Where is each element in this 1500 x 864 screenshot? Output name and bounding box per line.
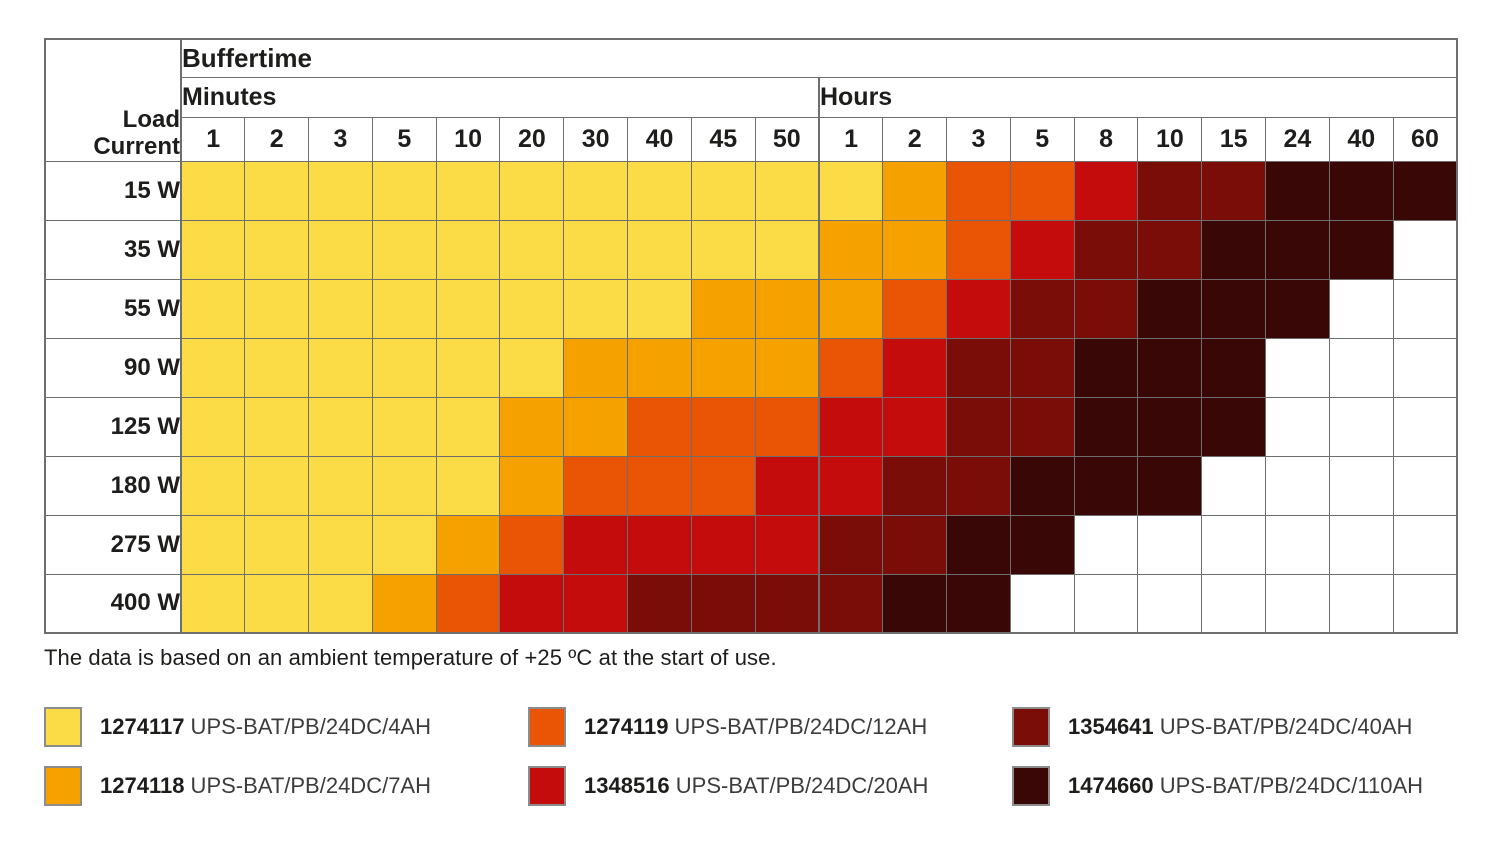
heat-cell <box>819 279 883 338</box>
legend-article-name: UPS-BAT/PB/24DC/20AH <box>670 773 929 798</box>
legend-article-code: 1274118 <box>100 773 184 798</box>
heat-cell <box>819 397 883 456</box>
heat-cell <box>245 515 309 574</box>
hours-subgroup-title: Hours <box>819 77 1457 117</box>
heat-cell <box>1202 279 1266 338</box>
legend-item: 1348516 UPS-BAT/PB/24DC/20AH <box>528 766 1012 806</box>
heat-cell <box>1138 574 1202 633</box>
heat-cell <box>1393 456 1457 515</box>
heat-cell <box>883 515 947 574</box>
heat-cell <box>1074 397 1138 456</box>
column-header-hour-8: 8 <box>1074 117 1138 161</box>
legend-label: 1474660 UPS-BAT/PB/24DC/110AH <box>1068 773 1423 799</box>
legend-article-code: 1274119 <box>584 714 668 739</box>
table-row: 400 W <box>45 574 1457 633</box>
heat-cell <box>1266 279 1330 338</box>
legend-label: 1348516 UPS-BAT/PB/24DC/20AH <box>584 773 928 799</box>
column-header-min-45: 45 <box>691 117 755 161</box>
heat-cell <box>564 574 628 633</box>
heat-cell <box>245 161 309 220</box>
heat-cell <box>372 279 436 338</box>
heat-cell <box>1074 456 1138 515</box>
heat-cell <box>819 515 883 574</box>
legend-label: 1274119 UPS-BAT/PB/24DC/12AH <box>584 714 927 740</box>
heat-cell <box>1010 456 1074 515</box>
heat-cell <box>500 220 564 279</box>
heat-cell <box>564 220 628 279</box>
load-current-line1: Load <box>46 107 180 134</box>
heat-cell <box>755 279 819 338</box>
heat-cell <box>691 220 755 279</box>
heat-cell <box>372 397 436 456</box>
table-row: 275 W <box>45 515 1457 574</box>
heat-cell <box>691 279 755 338</box>
heat-cell <box>1074 515 1138 574</box>
heat-cell <box>500 279 564 338</box>
legend-article-name: UPS-BAT/PB/24DC/110AH <box>1154 773 1423 798</box>
legend-color-swatch <box>1012 766 1050 806</box>
heat-cell <box>1329 574 1393 633</box>
heat-cell <box>436 161 500 220</box>
heat-cell <box>947 456 1011 515</box>
heat-cell <box>819 161 883 220</box>
heat-cell <box>181 161 245 220</box>
heat-cell <box>309 338 373 397</box>
heat-cell <box>181 279 245 338</box>
legend-item: 1354641 UPS-BAT/PB/24DC/40AH <box>1012 707 1456 747</box>
heat-cell <box>1329 338 1393 397</box>
column-header-min-5: 5 <box>372 117 436 161</box>
heat-cell <box>1393 338 1457 397</box>
row-header-180-w: 180 W <box>45 456 181 515</box>
row-header-275-w: 275 W <box>45 515 181 574</box>
row-header-15-w: 15 W <box>45 161 181 220</box>
heat-cell <box>245 279 309 338</box>
column-header-hour-3: 3 <box>947 117 1011 161</box>
heat-cell <box>1393 279 1457 338</box>
heat-cell <box>564 161 628 220</box>
legend-article-name: UPS-BAT/PB/24DC/4AH <box>184 714 431 739</box>
heat-cell <box>1202 161 1266 220</box>
heat-cell <box>1202 397 1266 456</box>
heat-cell <box>500 161 564 220</box>
heat-cell <box>372 338 436 397</box>
heat-cell <box>181 397 245 456</box>
heat-cell <box>628 279 692 338</box>
row-header-125-w: 125 W <box>45 397 181 456</box>
heat-cell <box>947 574 1011 633</box>
heat-cell <box>181 338 245 397</box>
heat-cell <box>628 397 692 456</box>
legend-label: 1274117 UPS-BAT/PB/24DC/4AH <box>100 714 431 740</box>
heat-cell <box>372 161 436 220</box>
heat-cell <box>1266 397 1330 456</box>
heat-cell <box>1393 397 1457 456</box>
heat-cell <box>309 574 373 633</box>
heat-cell <box>628 574 692 633</box>
heat-cell <box>1010 515 1074 574</box>
heat-cell <box>1138 161 1202 220</box>
heat-cell <box>1329 515 1393 574</box>
heat-cell <box>691 456 755 515</box>
heat-cell <box>1010 338 1074 397</box>
heat-cell <box>628 161 692 220</box>
heat-cell <box>181 220 245 279</box>
column-header-hour-2: 2 <box>883 117 947 161</box>
heat-cell <box>1393 515 1457 574</box>
heat-cell <box>564 456 628 515</box>
heat-cell <box>883 279 947 338</box>
legend-color-swatch <box>528 766 566 806</box>
heat-cell <box>947 161 1011 220</box>
column-header-hour-40: 40 <box>1329 117 1393 161</box>
heat-cell <box>1329 279 1393 338</box>
column-header-min-3: 3 <box>309 117 373 161</box>
table-row: 55 W <box>45 279 1457 338</box>
legend-label: 1274118 UPS-BAT/PB/24DC/7AH <box>100 773 431 799</box>
heat-cell <box>436 574 500 633</box>
heat-cell <box>1074 279 1138 338</box>
heat-cell <box>883 574 947 633</box>
heat-cell <box>1329 220 1393 279</box>
heat-cell <box>1138 456 1202 515</box>
table-header: Load Current Buffertime Minutes Hours 12… <box>45 39 1457 161</box>
legend-item: 1474660 UPS-BAT/PB/24DC/110AH <box>1012 766 1456 806</box>
heat-cell <box>500 574 564 633</box>
legend-article-code: 1474660 <box>1068 773 1154 798</box>
legend-label: 1354641 UPS-BAT/PB/24DC/40AH <box>1068 714 1412 740</box>
heat-cell <box>1138 397 1202 456</box>
heat-cell <box>947 220 1011 279</box>
heat-cell <box>309 161 373 220</box>
heat-cell <box>883 220 947 279</box>
load-current-corner-label: Load Current <box>45 39 181 161</box>
heat-cell <box>1138 338 1202 397</box>
heat-cell <box>500 338 564 397</box>
heat-cell <box>1202 456 1266 515</box>
heat-cell <box>1202 220 1266 279</box>
heat-cell <box>1010 574 1074 633</box>
heat-cell <box>564 279 628 338</box>
legend-item: 1274119 UPS-BAT/PB/24DC/12AH <box>528 707 1012 747</box>
heat-cell <box>819 220 883 279</box>
minutes-subgroup-title: Minutes <box>181 77 819 117</box>
heat-cell <box>564 338 628 397</box>
heat-cell <box>755 515 819 574</box>
row-header-90-w: 90 W <box>45 338 181 397</box>
heat-cell <box>1393 161 1457 220</box>
heat-cell <box>1329 397 1393 456</box>
heat-cell <box>1266 515 1330 574</box>
table-row: 15 W <box>45 161 1457 220</box>
heat-cell <box>1138 220 1202 279</box>
legend-color-swatch <box>44 707 82 747</box>
heat-cell <box>628 338 692 397</box>
column-header-hour-10: 10 <box>1138 117 1202 161</box>
heat-cell <box>1266 161 1330 220</box>
heat-cell <box>564 515 628 574</box>
heat-cell <box>755 338 819 397</box>
table-row: 35 W <box>45 220 1457 279</box>
heat-cell <box>436 338 500 397</box>
column-header-hour-60: 60 <box>1393 117 1457 161</box>
heat-cell <box>628 220 692 279</box>
column-header-hour-24: 24 <box>1266 117 1330 161</box>
heat-cell <box>1010 279 1074 338</box>
heat-cell <box>883 161 947 220</box>
header-row-column-ticks: 1235102030404550123581015244060 <box>45 117 1457 161</box>
heat-cell <box>819 338 883 397</box>
row-header-400-w: 400 W <box>45 574 181 633</box>
heat-cell <box>1329 161 1393 220</box>
heat-cell <box>1074 220 1138 279</box>
heat-cell <box>883 397 947 456</box>
legend-color-swatch <box>44 766 82 806</box>
heat-cell <box>372 574 436 633</box>
heat-cell <box>372 456 436 515</box>
column-header-min-50: 50 <box>755 117 819 161</box>
heat-cell <box>691 161 755 220</box>
header-row-subgroups: Minutes Hours <box>45 77 1457 117</box>
legend: 1274117 UPS-BAT/PB/24DC/4AH1274119 UPS-B… <box>44 697 1456 815</box>
heat-cell <box>372 515 436 574</box>
heat-cell <box>819 456 883 515</box>
column-header-min-1: 1 <box>181 117 245 161</box>
legend-article-code: 1348516 <box>584 773 670 798</box>
heat-cell <box>436 279 500 338</box>
heat-cell <box>1329 456 1393 515</box>
heat-cell <box>691 515 755 574</box>
heat-cell <box>436 515 500 574</box>
heat-cell <box>245 574 309 633</box>
column-header-min-20: 20 <box>500 117 564 161</box>
heat-cell <box>309 515 373 574</box>
heat-cell <box>245 456 309 515</box>
heat-cell <box>500 397 564 456</box>
heat-cell <box>1010 397 1074 456</box>
heat-cell <box>309 456 373 515</box>
legend-article-code: 1274117 <box>100 714 184 739</box>
heat-cell <box>245 397 309 456</box>
heat-cell <box>500 515 564 574</box>
heat-cell <box>628 515 692 574</box>
heat-cell <box>755 456 819 515</box>
legend-article-name: UPS-BAT/PB/24DC/12AH <box>668 714 927 739</box>
heat-cell <box>1074 574 1138 633</box>
heat-cell <box>947 279 1011 338</box>
heat-cell <box>245 220 309 279</box>
heat-cell <box>1074 338 1138 397</box>
heat-cell <box>755 161 819 220</box>
legend-article-name: UPS-BAT/PB/24DC/7AH <box>184 773 431 798</box>
heat-cell <box>1202 338 1266 397</box>
heat-cell <box>436 397 500 456</box>
heat-cell <box>309 220 373 279</box>
heat-cell <box>1074 161 1138 220</box>
column-header-min-30: 30 <box>564 117 628 161</box>
column-header-hour-1: 1 <box>819 117 883 161</box>
heat-cell <box>755 220 819 279</box>
heat-cell <box>628 456 692 515</box>
heat-cell <box>181 574 245 633</box>
heat-cell <box>691 338 755 397</box>
row-header-55-w: 55 W <box>45 279 181 338</box>
legend-article-name: UPS-BAT/PB/24DC/40AH <box>1154 714 1413 739</box>
heat-cell <box>1138 279 1202 338</box>
column-header-min-40: 40 <box>628 117 692 161</box>
heat-cell <box>1010 220 1074 279</box>
legend-article-code: 1354641 <box>1068 714 1154 739</box>
heat-cell <box>947 515 1011 574</box>
legend-color-swatch <box>1012 707 1050 747</box>
column-header-hour-5: 5 <box>1010 117 1074 161</box>
heat-cell <box>1266 220 1330 279</box>
heat-cell <box>309 397 373 456</box>
heat-cell <box>755 574 819 633</box>
heat-cell <box>181 456 245 515</box>
heat-cell <box>1010 161 1074 220</box>
heat-cell <box>1266 574 1330 633</box>
footnote: The data is based on an ambient temperat… <box>44 645 1456 671</box>
header-row-group-title: Load Current Buffertime <box>45 39 1457 77</box>
heat-cell <box>564 397 628 456</box>
heat-cell <box>1202 515 1266 574</box>
legend-item: 1274118 UPS-BAT/PB/24DC/7AH <box>44 766 528 806</box>
heat-cell <box>500 456 564 515</box>
row-header-35-w: 35 W <box>45 220 181 279</box>
heatmap-body: 15 W35 W55 W90 W125 W180 W275 W400 W <box>45 161 1457 633</box>
heat-cell <box>436 220 500 279</box>
table-row: 180 W <box>45 456 1457 515</box>
table-row: 125 W <box>45 397 1457 456</box>
buffertime-heatmap-table: Load Current Buffertime Minutes Hours 12… <box>44 38 1458 634</box>
heat-cell <box>691 397 755 456</box>
heat-cell <box>819 574 883 633</box>
load-current-line2: Current <box>46 134 180 161</box>
heatmap-page: Load Current Buffertime Minutes Hours 12… <box>0 0 1500 864</box>
heat-cell <box>1202 574 1266 633</box>
heat-cell <box>755 397 819 456</box>
column-header-min-10: 10 <box>436 117 500 161</box>
column-header-hour-15: 15 <box>1202 117 1266 161</box>
heat-cell <box>947 397 1011 456</box>
heat-cell <box>309 279 373 338</box>
heat-cell <box>1266 456 1330 515</box>
heat-cell <box>691 574 755 633</box>
heat-cell <box>181 515 245 574</box>
table-row: 90 W <box>45 338 1457 397</box>
heat-cell <box>1393 574 1457 633</box>
heat-cell <box>947 338 1011 397</box>
heat-cell <box>245 338 309 397</box>
heat-cell <box>883 456 947 515</box>
heat-cell <box>883 338 947 397</box>
heat-cell <box>1138 515 1202 574</box>
heat-cell <box>436 456 500 515</box>
buffertime-group-title: Buffertime <box>181 39 1457 77</box>
legend-item: 1274117 UPS-BAT/PB/24DC/4AH <box>44 707 528 747</box>
column-header-min-2: 2 <box>245 117 309 161</box>
heat-cell <box>1266 338 1330 397</box>
legend-color-swatch <box>528 707 566 747</box>
heat-cell <box>372 220 436 279</box>
heat-cell <box>1393 220 1457 279</box>
